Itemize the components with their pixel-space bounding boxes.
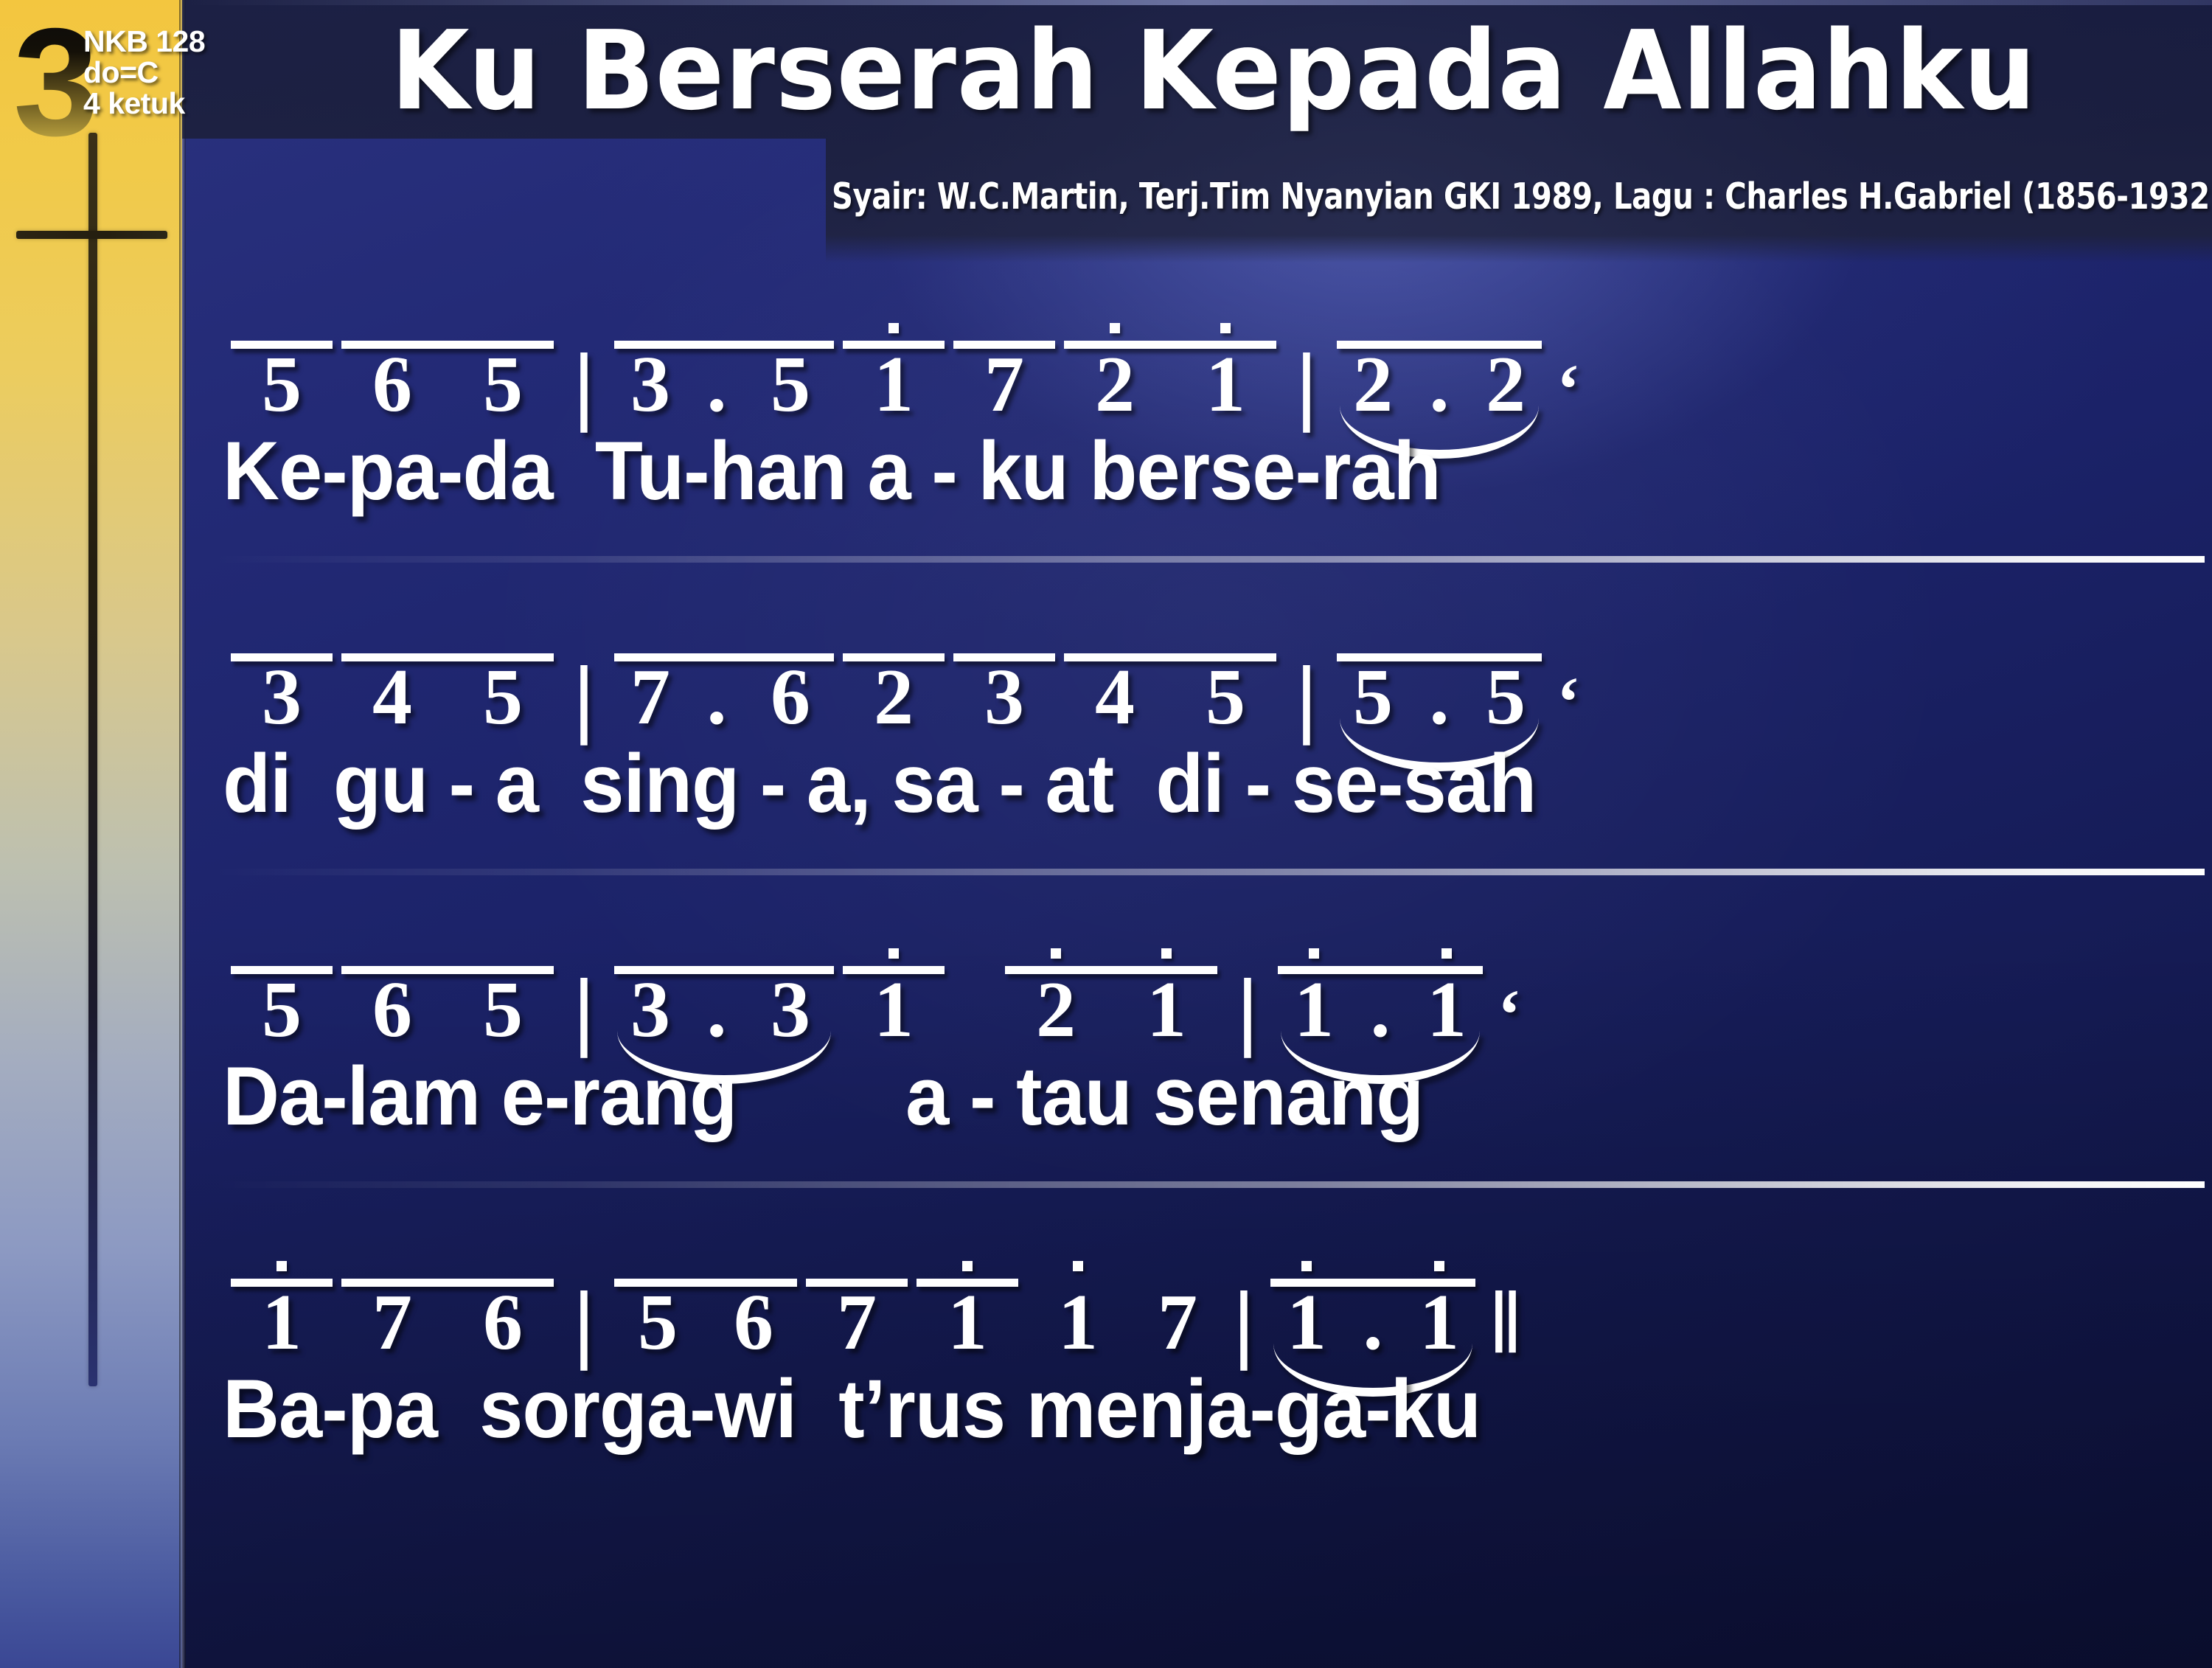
note-numeral: 3 (949, 658, 1060, 737)
note-numeral: 5 (448, 970, 558, 1050)
note-numeral: 7 (1133, 1283, 1222, 1363)
beamed-note-group: 7.6 (610, 658, 838, 737)
note-numeral: 2 (838, 658, 949, 737)
note-numeral: 6 (337, 970, 448, 1050)
note-numeral: 3 (610, 345, 691, 425)
note-numeral: 5 (448, 345, 558, 425)
note-group: | (1281, 658, 1332, 737)
beamed-note-group: 76 (337, 1283, 558, 1363)
notation-system: 176|567117|1.1‖Ba-pa sorga-wi t’rus menj… (182, 1200, 2212, 1513)
breath-mark: ‘ (1546, 354, 1590, 425)
beamed-note-group: 3 (949, 658, 1060, 737)
beamed-note-group: 7 (801, 1283, 912, 1363)
beamed-note-group: 1 (912, 1283, 1023, 1363)
gold-sidebar (0, 0, 182, 1668)
beamed-note-group: 3 (226, 658, 337, 737)
beamed-note-group: 1.1 (1266, 1283, 1480, 1363)
hymn-key-signature: do=C (83, 58, 201, 88)
beamed-note-group: 5 (226, 970, 337, 1050)
hymn-number: 3 (13, 6, 94, 159)
hymn-credits: Syair: W.C.Martin, Terj.Tim Nyanyian GKI… (832, 176, 2212, 218)
note-numeral: 7 (949, 345, 1060, 425)
beamed-note-group: 1.1 (1273, 970, 1487, 1050)
note-group: ‘ (1546, 667, 1590, 737)
beamed-note-group: 2.2 (1332, 345, 1546, 425)
duration-dot: . (691, 970, 742, 1050)
beamed-note-group: 2 (838, 658, 949, 737)
note-numeral: 5 (226, 345, 337, 425)
final-barline: ‖ (1480, 1284, 1531, 1363)
note-numeral: 7 (610, 658, 691, 737)
note-numeral: 6 (448, 1283, 558, 1363)
note-numeral: 1 (912, 1283, 1023, 1363)
barline: | (1281, 658, 1332, 737)
beamed-note-group: 21 (1060, 345, 1281, 425)
system-separator-line (212, 869, 2205, 875)
note-numeral: 5 (1170, 658, 1281, 737)
system-separator-line (212, 556, 2205, 563)
notation-row: 565|3.31 21|1.1‘ (182, 939, 2212, 1050)
barline: | (558, 658, 610, 737)
note-group: | (558, 971, 610, 1050)
barline: | (558, 1284, 610, 1363)
beamed-note-group: 3.5 (610, 345, 838, 425)
note-numeral: 2 (1332, 345, 1413, 425)
header-top-highlight (182, 0, 2212, 5)
notation-row: 345|7.62345|5.5‘ (182, 627, 2212, 737)
note-numeral: 5 (226, 970, 337, 1050)
note-numeral: 1 (1023, 1283, 1133, 1363)
barline: | (1281, 346, 1332, 425)
notation-systems: 565|3.51721|2.2‘Ke-pa-da Tu-han a - ku b… (182, 263, 2212, 1668)
note-numeral: 6 (337, 345, 448, 425)
note-numeral: 3 (610, 970, 691, 1050)
note-numeral: 4 (1060, 658, 1170, 737)
beamed-note-group: 45 (1060, 658, 1281, 737)
notation-system: 565|3.31 21|1.1‘Da-lam e-rang a - tau se… (182, 888, 2212, 1200)
duration-dot: . (1347, 1283, 1399, 1363)
note-numeral: 2 (1465, 345, 1546, 425)
hymn-slide: 3 NKB 128 do=C 4 ketuk Ku Berserah Kepad… (0, 0, 2212, 1668)
cross-icon-vertical-beam (88, 133, 97, 1386)
hymn-meta: NKB 128 do=C 4 ketuk (83, 27, 201, 119)
note-numeral: 4 (337, 658, 448, 737)
note-group: | (1222, 1284, 1266, 1363)
note-numeral: 5 (1465, 658, 1546, 737)
note-group: | (558, 346, 610, 425)
note-group: ‘ (1546, 354, 1590, 425)
duration-dot: . (1413, 658, 1465, 737)
note-numeral: 5 (448, 658, 558, 737)
barline: | (1222, 971, 1273, 1050)
note-numeral: 1 (1399, 1283, 1480, 1363)
note-group: | (558, 1284, 610, 1363)
beamed-note-group: 65 (337, 345, 558, 425)
note-numeral: 6 (706, 1283, 801, 1363)
note-numeral: 1 (1273, 970, 1354, 1050)
beamed-note-group: 5 (226, 345, 337, 425)
note-numeral: 1 (1170, 345, 1281, 425)
note-numeral: 3 (742, 970, 838, 1050)
note-numeral: 1 (838, 345, 949, 425)
system-separator-line (212, 1181, 2205, 1188)
note-numeral: 1 (1406, 970, 1487, 1050)
note-numeral: 7 (337, 1283, 448, 1363)
note-group: | (1222, 971, 1273, 1050)
hymn-title: Ku Berserah Kepada Allahku (391, 16, 2037, 125)
duration-dot: . (1413, 345, 1465, 425)
breath-mark: ‘ (1546, 667, 1590, 737)
note-numeral: 2 (1001, 970, 1111, 1050)
hymn-beat-count: 4 ketuk (83, 88, 201, 119)
lyrics-line: Da-lam e-rang a - tau senang (182, 1049, 2110, 1144)
lyrics-line: di gu - a sing - a, sa - at di - se-sah (182, 736, 2110, 831)
beamed-note-group: 45 (337, 658, 558, 737)
note-numeral: 2 (1060, 345, 1170, 425)
beamed-note-group: 7 (949, 345, 1060, 425)
note-group: | (1281, 346, 1332, 425)
note-group: 7 (1133, 1283, 1222, 1363)
note-numeral: 5 (610, 1283, 706, 1363)
barline: | (558, 346, 610, 425)
duration-dot: . (1354, 970, 1406, 1050)
notation-row: 565|3.51721|2.2‘ (182, 314, 2212, 425)
note-group: | (558, 658, 610, 737)
note-group: 1 (1023, 1283, 1133, 1363)
notation-row: 176|567117|1.1‖ (182, 1252, 2212, 1363)
notation-system: 345|7.62345|5.5‘di gu - a sing - a, sa -… (182, 575, 2212, 888)
duration-dot: . (691, 345, 742, 425)
beamed-note-group: 1 (838, 345, 949, 425)
beamed-note-group: 3.3 (610, 970, 838, 1050)
beamed-note-group: 65 (337, 970, 558, 1050)
note-numeral: 7 (801, 1283, 912, 1363)
note-numeral: 5 (1332, 658, 1413, 737)
note-numeral: 3 (226, 658, 337, 737)
barline: | (558, 971, 610, 1050)
note-group: ‘ (1487, 979, 1531, 1050)
note-group: ‖ (1480, 1284, 1531, 1363)
hymn-book-reference: NKB 128 (83, 27, 201, 58)
lyrics-line: Ba-pa sorga-wi t’rus menja-ga-ku (182, 1361, 2110, 1456)
note-numeral: 1 (1266, 1283, 1347, 1363)
barline: | (1222, 1284, 1266, 1363)
beamed-note-group: 1 (838, 970, 949, 1050)
beamed-note-group: 21 (1001, 970, 1222, 1050)
beamed-note-group: 1 (226, 1283, 337, 1363)
breath-mark: ‘ (1487, 979, 1531, 1050)
notation-system: 565|3.51721|2.2‘Ke-pa-da Tu-han a - ku b… (182, 263, 2212, 575)
note-numeral: 1 (226, 1283, 337, 1363)
note-numeral: 1 (838, 970, 949, 1050)
lyrics-line: Ke-pa-da Tu-han a - ku berse-rah (182, 423, 2110, 518)
beamed-note-group: 56 (610, 1283, 801, 1363)
cross-icon-horizontal-beam (16, 231, 167, 239)
note-numeral: 1 (1111, 970, 1222, 1050)
duration-dot: . (691, 658, 742, 737)
note-numeral: 5 (742, 345, 838, 425)
note-numeral: 6 (742, 658, 838, 737)
beamed-note-group: 5.5 (1332, 658, 1546, 737)
